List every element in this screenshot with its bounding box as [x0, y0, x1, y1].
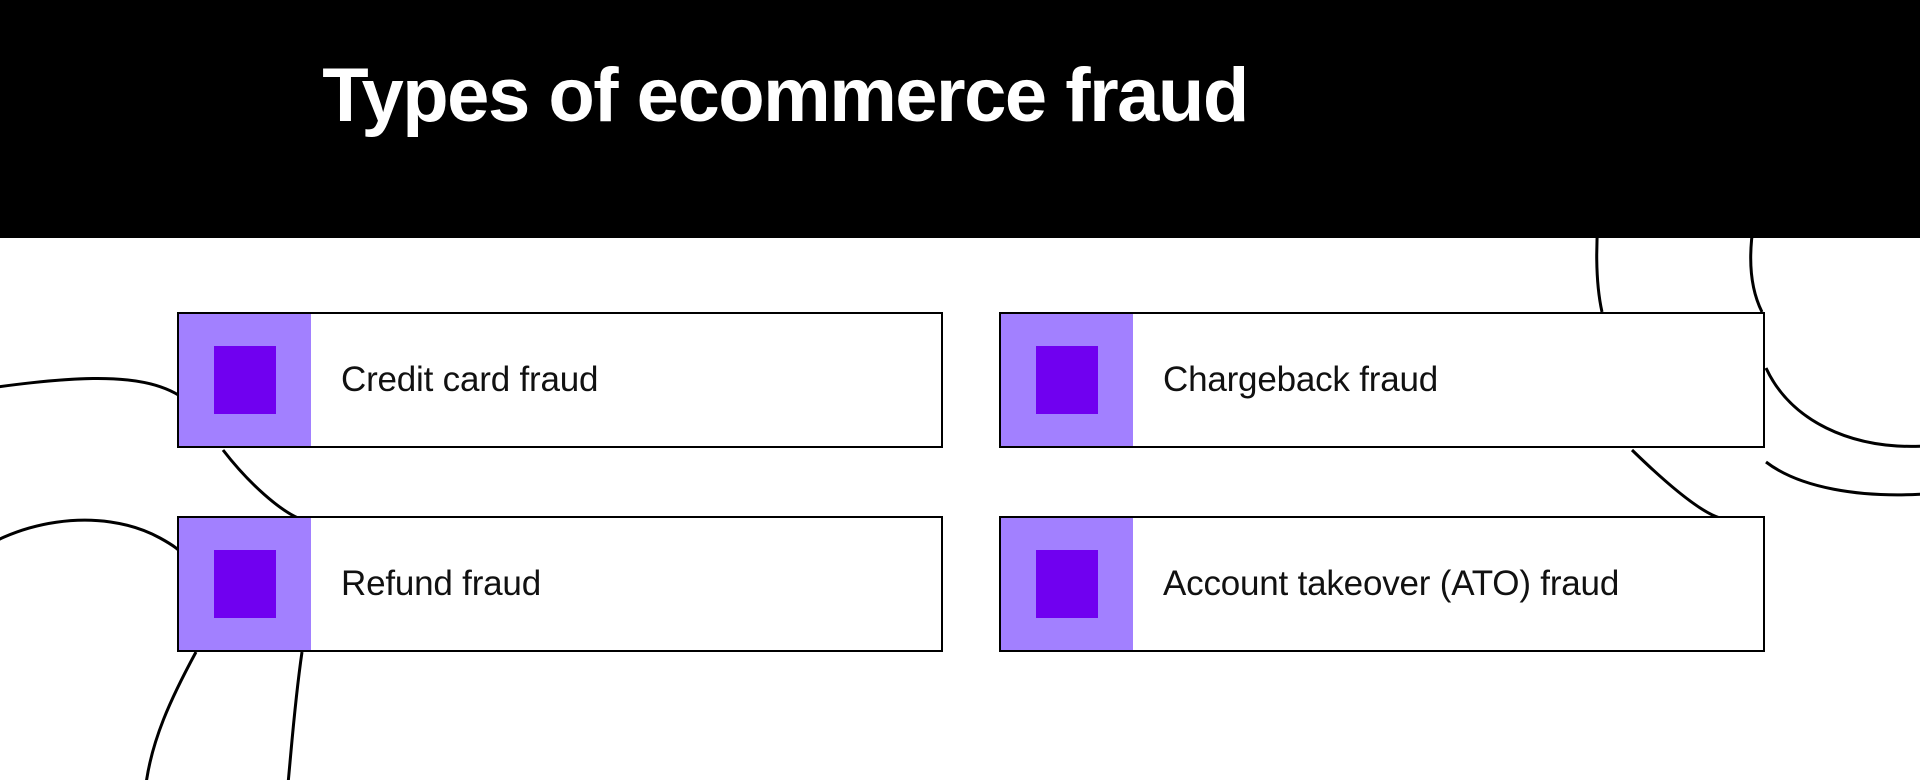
arc-between-left-cards — [223, 450, 298, 518]
fraud-card-label: Credit card fraud — [311, 314, 941, 446]
arc-right-lower-sweep — [1766, 462, 1920, 495]
header-band: Types of ecommerce fraud — [0, 0, 1920, 238]
fraud-card-credit-card[interactable]: Credit card fraud — [177, 312, 943, 448]
ecommerce-fraud-infographic: Types of ecommerce fraud Credit card fra… — [0, 0, 1920, 780]
square-badge-icon — [1001, 518, 1133, 650]
square-badge-icon-inner — [214, 550, 276, 618]
arc-left-upper — [0, 378, 183, 398]
arc-between-right-cards — [1632, 450, 1720, 518]
fraud-card-chargeback[interactable]: Chargeback fraud — [999, 312, 1765, 448]
arc-left-lower-circle — [0, 520, 186, 612]
square-badge-icon — [179, 314, 311, 446]
square-badge-icon — [1001, 314, 1133, 446]
fraud-card-label: Account takeover (ATO) fraud — [1133, 518, 1763, 650]
square-badge-icon-inner — [1036, 346, 1098, 414]
square-badge-icon-inner — [214, 346, 276, 414]
arc-below-left-card-a — [146, 652, 196, 780]
arc-below-left-card-b — [288, 652, 302, 780]
fraud-card-account-takeover[interactable]: Account takeover (ATO) fraud — [999, 516, 1765, 652]
fraud-card-label: Chargeback fraud — [1133, 314, 1763, 446]
fraud-card-refund[interactable]: Refund fraud — [177, 516, 943, 652]
square-badge-icon-inner — [1036, 550, 1098, 618]
square-badge-icon — [179, 518, 311, 650]
arc-right-upper-sweep — [1766, 368, 1920, 446]
fraud-card-label: Refund fraud — [311, 518, 941, 650]
page-title: Types of ecommerce fraud — [0, 52, 1745, 140]
